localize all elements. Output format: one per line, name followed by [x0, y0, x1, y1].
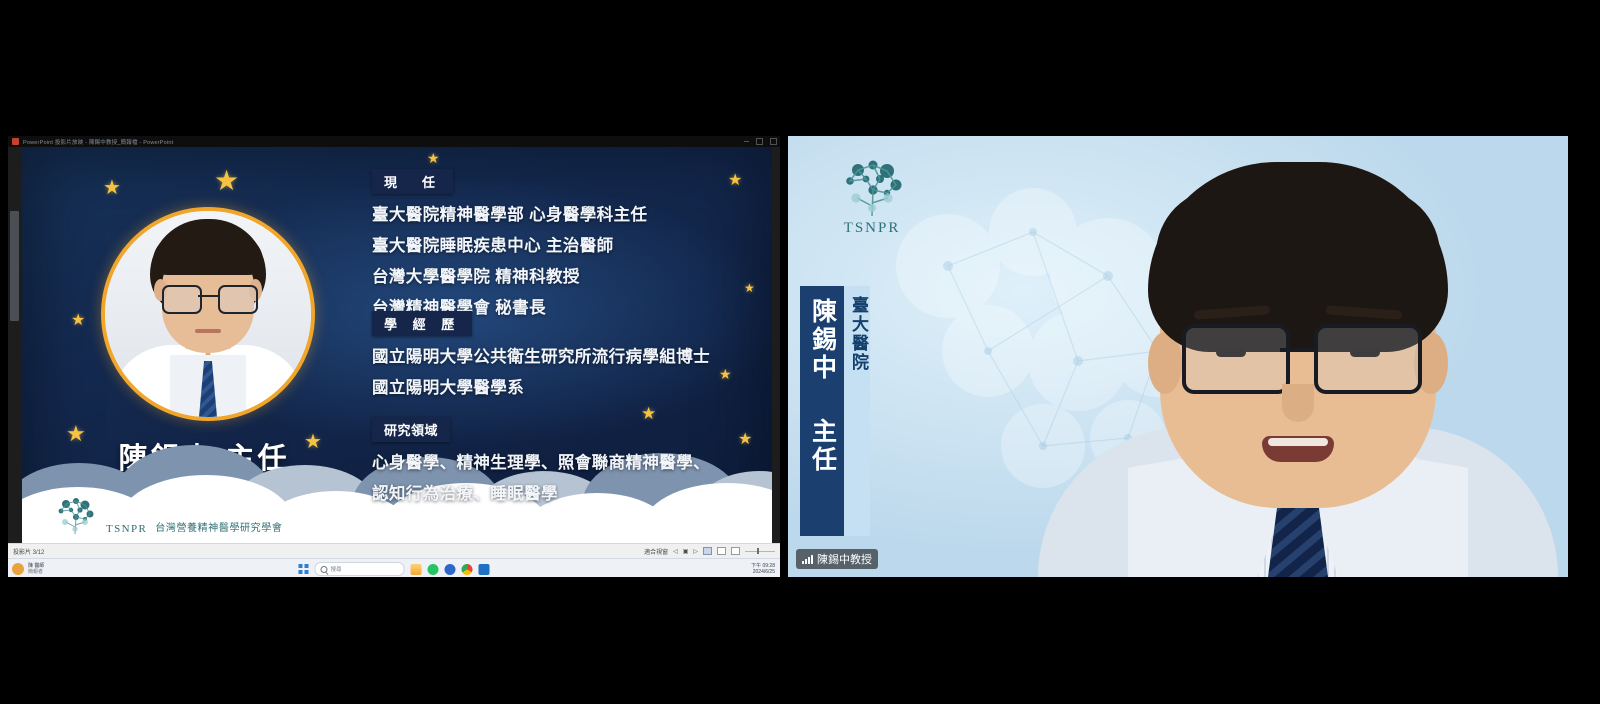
shared-screen-powerpoint[interactable]: PowerPoint 投影片放映 - 陳錫中教授_簡報檔 - PowerPoin… — [8, 136, 780, 577]
speaker-name-banner: 陳錫中 主任 臺大醫院 — [800, 286, 870, 536]
canvas-right-gutter — [772, 147, 780, 543]
star-icon: ★ — [103, 178, 121, 198]
clock-date: 2024/6/25 — [751, 569, 775, 576]
avatar — [12, 563, 24, 575]
teams-icon[interactable] — [445, 564, 456, 575]
windows-taskbar[interactable]: 陳 醫師 簡報者 搜尋 下午 09:28 2024/6/25 — [8, 558, 780, 577]
taskbar-clock[interactable]: 下午 09:28 2024/6/25 — [751, 563, 775, 576]
next-slide-button[interactable]: ▷ — [693, 548, 698, 555]
screen-root: PowerPoint 投影片放映 - 陳錫中教授_簡報檔 - PowerPoin… — [0, 0, 1600, 704]
star-icon: ★ — [744, 282, 755, 294]
video-logo: TSNPR — [812, 156, 932, 237]
thumbnail-scrollbar[interactable] — [10, 211, 19, 321]
close-icon[interactable] — [770, 138, 777, 145]
whatsapp-icon[interactable] — [428, 564, 439, 575]
banner-title: 主任 — [809, 418, 836, 474]
powerpoint-body: ★ ★ ★ ★ ★ ★ ★ ★ ★ ★ ★ ★ — [8, 147, 780, 543]
section-line: 臺大醫院精神醫學部 心身醫學科主任 — [372, 201, 647, 225]
section-heading: 學 經 歷 — [372, 311, 472, 336]
slide-logo-chinese: 台灣營養精神醫學研究學會 — [155, 519, 282, 535]
search-placeholder: 搜尋 — [331, 565, 342, 573]
star-icon: ★ — [214, 167, 239, 195]
slide-section-research: 研究領域 心身醫學、精神生理學、照會聯商精神醫學、 認知行為治療、睡眠醫學 — [372, 417, 710, 504]
speaker-figure — [1018, 136, 1568, 577]
taskbar-user-sub: 簡報者 — [28, 569, 44, 575]
window-title: PowerPoint 投影片放映 - 陳錫中教授_簡報檔 - PowerPoin… — [23, 138, 173, 146]
taskbar-user[interactable]: 陳 醫師 簡報者 — [12, 563, 44, 576]
slide-logo: TSNPR 台灣營養精神醫學研究學會 — [52, 495, 282, 535]
prev-slide-button[interactable]: ◁ — [673, 548, 678, 555]
fit-window-label[interactable]: 適合視窗 — [644, 547, 668, 556]
signal-strength-icon — [802, 555, 813, 564]
outlook-icon[interactable] — [479, 564, 490, 575]
presenter-portrait — [101, 207, 315, 421]
zoom-slider[interactable] — [745, 551, 775, 552]
slide-thumbnail-rail[interactable] — [8, 147, 22, 543]
search-icon — [321, 566, 328, 573]
star-icon: ★ — [427, 151, 440, 165]
powerpoint-icon — [12, 138, 19, 145]
taskbar-center-group[interactable]: 搜尋 — [299, 562, 490, 576]
slide-section-education: 學 經 歷 國立陽明大學公共衛生研究所流行病學組博士 國立陽明大學醫學系 — [372, 311, 710, 398]
taskbar-search-box[interactable]: 搜尋 — [315, 562, 405, 576]
banner-institution: 臺大醫院 — [849, 296, 867, 372]
minimize-icon[interactable] — [744, 138, 749, 142]
normal-view-button[interactable] — [703, 547, 712, 555]
section-line: 臺大醫院睡眠疾患中心 主治醫師 — [372, 232, 647, 256]
powerpoint-status-bar[interactable]: 投影片 3/12 適合視窗 ◁ ▣ ▷ — [8, 543, 780, 558]
file-explorer-icon[interactable] — [411, 564, 422, 575]
section-line: 認知行為治療、睡眠醫學 — [372, 480, 710, 504]
participant-video-tile[interactable]: TSNPR 陳錫中 主任 臺大醫院 陳錫中教授 — [788, 136, 1568, 577]
slide-section-current-positions: 現 任 臺大醫院精神醫學部 心身醫學科主任 臺大醫院睡眠疾患中心 主治醫師 台灣… — [372, 169, 647, 318]
participant-name-label: 陳錫中教授 — [796, 549, 878, 569]
play-slideshow-button[interactable]: ▣ — [683, 548, 689, 555]
slide-logo-acronym: TSNPR — [106, 523, 147, 535]
section-heading: 研究領域 — [372, 417, 450, 442]
star-icon: ★ — [71, 313, 85, 329]
banner-name: 陳錫中 — [809, 298, 836, 382]
window-controls[interactable] — [744, 138, 777, 145]
reading-view-button[interactable] — [731, 547, 740, 555]
brain-network-icon — [836, 156, 908, 218]
video-logo-acronym: TSNPR — [812, 220, 932, 237]
section-line: 心身醫學、精神生理學、照會聯商精神醫學、 — [372, 449, 710, 473]
section-line: 台灣大學醫學院 精神科教授 — [372, 263, 647, 287]
maximize-icon[interactable] — [756, 138, 763, 145]
participant-name: 陳錫中教授 — [817, 551, 872, 567]
brain-network-icon — [52, 495, 98, 535]
section-line: 國立陽明大學醫學系 — [372, 374, 710, 398]
windows-start-icon[interactable] — [299, 564, 309, 574]
slide-counter: 投影片 3/12 — [13, 547, 44, 556]
section-heading: 現 任 — [372, 169, 453, 194]
star-icon: ★ — [728, 173, 742, 189]
section-line: 國立陽明大學公共衛生研究所流行病學組博士 — [372, 343, 710, 367]
sorter-view-button[interactable] — [717, 547, 726, 555]
slide-canvas[interactable]: ★ ★ ★ ★ ★ ★ ★ ★ ★ ★ ★ ★ — [22, 147, 772, 543]
star-icon: ★ — [719, 367, 732, 381]
powerpoint-title-bar: PowerPoint 投影片放映 - 陳錫中教授_簡報檔 - PowerPoin… — [8, 136, 780, 147]
chrome-icon[interactable] — [462, 564, 473, 575]
